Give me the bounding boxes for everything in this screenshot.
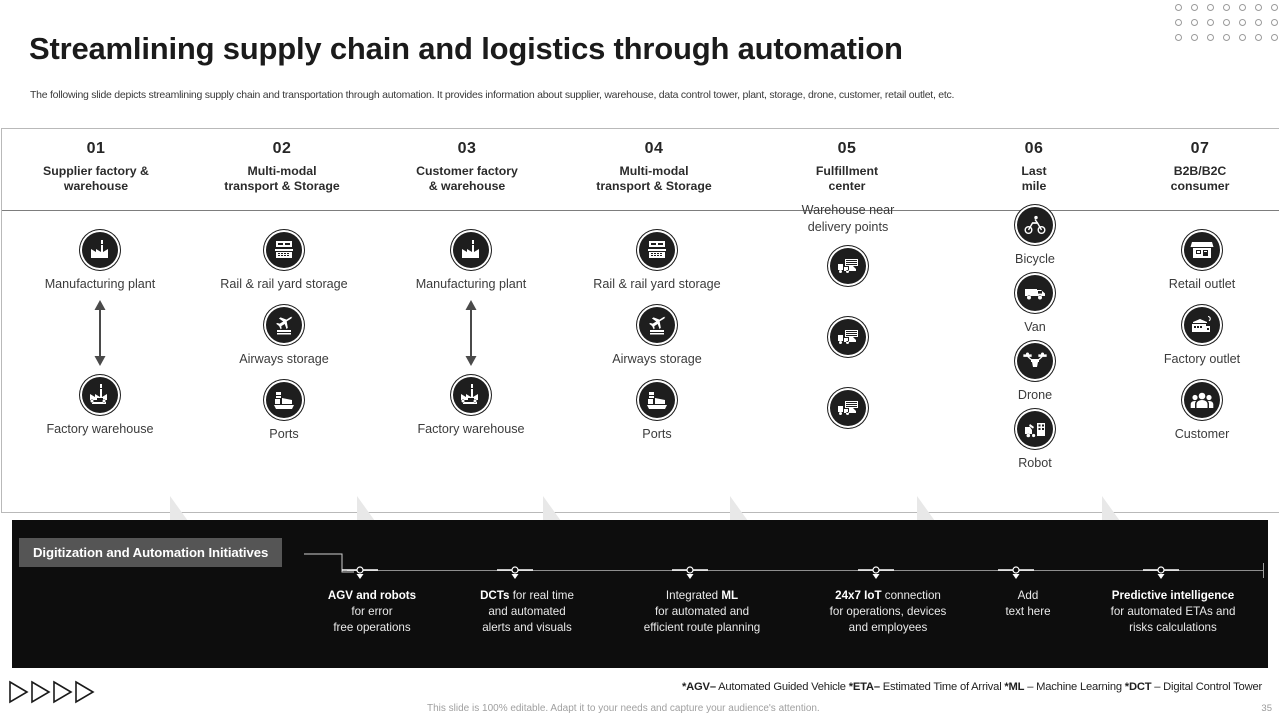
timeline-marker-5[interactable] xyxy=(992,562,1040,584)
node-label: Airways storage xyxy=(612,352,702,367)
node-manufacturing-plant-c3[interactable]: Manufacturing plant xyxy=(381,229,561,292)
node-drone[interactable]: Drone xyxy=(945,340,1125,403)
decorative-dot-grid xyxy=(1175,4,1278,41)
stage-number: 01 xyxy=(0,140,196,158)
drone-icon xyxy=(1014,340,1056,382)
initiative-line2: for automated and xyxy=(597,604,807,620)
stage-label-line2: consumer xyxy=(1100,179,1280,194)
stage-column-1: Manufacturing plant Factory warehouse xyxy=(10,229,190,437)
stage-label-line2: transport & Storage xyxy=(182,179,382,194)
stage-label: Customer factory& warehouse xyxy=(367,164,567,194)
node-label: Rail & rail yard storage xyxy=(220,277,347,292)
node-label: Factory outlet xyxy=(1164,352,1240,367)
page-number: 35 xyxy=(1261,703,1272,714)
node-label: Ports xyxy=(269,427,298,442)
slide-root: Streamlining supply chain and logistics … xyxy=(0,0,1280,720)
legend-eta-text: Estimated Time of Arrival xyxy=(880,681,1005,693)
stage-label-line2: warehouse xyxy=(0,179,196,194)
initiative-line1: Predictive intelligence xyxy=(1068,588,1278,604)
timeline-marker-4[interactable] xyxy=(852,562,900,584)
initiative-item-3: Integrated MLfor automated andefficient … xyxy=(597,588,807,636)
node-label: Ports xyxy=(642,427,671,442)
stage-number: 03 xyxy=(367,140,567,158)
stage-label: Multi-modaltransport & Storage xyxy=(554,164,754,194)
node-manufacturing-plant-c1[interactable]: Manufacturing plant xyxy=(10,229,190,292)
stage-header-row: 01Supplier factory &warehouse02Multi-mod… xyxy=(2,129,1279,211)
decorative-dot xyxy=(1223,19,1230,26)
initiatives-band: Digitization and Automation Initiatives … xyxy=(12,520,1268,668)
factory-icon xyxy=(450,229,492,271)
play-triangle-icon xyxy=(30,680,52,709)
legend-eta: *ETA– xyxy=(849,681,880,693)
stage-number: 05 xyxy=(747,140,947,158)
decorative-dot xyxy=(1255,4,1262,11)
decorative-dot xyxy=(1191,34,1198,41)
node-label: Manufacturing plant xyxy=(416,277,527,292)
node-label: Rail & rail yard storage xyxy=(593,277,720,292)
play-triangle-icon xyxy=(8,680,30,709)
stage-column-5: Warehouse near delivery points xyxy=(758,203,938,429)
node-factory-outlet[interactable]: Factory outlet xyxy=(1112,304,1280,367)
legend-agv: *AGV– xyxy=(682,681,716,693)
warehouse-heading-line1: Warehouse near xyxy=(758,203,938,218)
node-van[interactable]: Van xyxy=(945,272,1125,335)
rail-yard-icon xyxy=(263,229,305,271)
decorative-dot xyxy=(1255,34,1262,41)
initiatives-badge: Digitization and Automation Initiatives xyxy=(19,538,282,567)
airways-storage-icon xyxy=(636,304,678,346)
stage-label-line1: Supplier factory & xyxy=(0,164,196,179)
robot-icon xyxy=(1014,408,1056,450)
node-label: Customer xyxy=(1175,427,1230,442)
decorative-dot xyxy=(1175,4,1182,11)
warehouse-truck-icon xyxy=(827,245,869,287)
decorative-triangles xyxy=(8,680,96,709)
stage-header-02: 02Multi-modaltransport & Storage xyxy=(182,140,382,194)
stage-label: Multi-modaltransport & Storage xyxy=(182,164,382,194)
node-retail-outlet[interactable]: Retail outlet xyxy=(1112,229,1280,292)
stage-label-line2: transport & Storage xyxy=(554,179,754,194)
warehouse-heading-line2: delivery points xyxy=(758,220,938,235)
factory-warehouse-icon xyxy=(450,374,492,416)
node-warehouse-delivery-3[interactable] xyxy=(758,387,938,429)
node-label: Airways storage xyxy=(239,352,329,367)
page-subtitle: The following slide depicts streamlining… xyxy=(30,89,954,101)
node-rail-yard-storage-c4[interactable]: Rail & rail yard storage xyxy=(567,229,747,292)
legend-dct: *DCT xyxy=(1125,681,1152,693)
stage-label-line2: & warehouse xyxy=(367,179,567,194)
node-factory-warehouse-c1[interactable]: Factory warehouse xyxy=(10,374,190,437)
decorative-dot xyxy=(1239,4,1246,11)
stage-header-03: 03Customer factory& warehouse xyxy=(367,140,567,194)
node-ports-c2[interactable]: Ports xyxy=(194,379,374,442)
timeline-marker-3[interactable] xyxy=(666,562,714,584)
node-label: Retail outlet xyxy=(1169,277,1236,292)
node-customer[interactable]: Customer xyxy=(1112,379,1280,442)
stage-label-line2: center xyxy=(747,179,947,194)
timeline-marker-6[interactable] xyxy=(1137,562,1185,584)
play-triangle-icon xyxy=(74,680,96,709)
legend-dct-text: – Digital Control Tower xyxy=(1151,681,1262,693)
node-label: Robot xyxy=(1018,456,1052,471)
node-warehouse-delivery-1[interactable] xyxy=(758,245,938,287)
warehouse-truck-icon xyxy=(827,316,869,358)
timeline-end-cap xyxy=(1263,563,1264,578)
factory-icon xyxy=(79,229,121,271)
decorative-dot xyxy=(1271,19,1278,26)
van-icon xyxy=(1014,272,1056,314)
node-label: Manufacturing plant xyxy=(45,277,156,292)
warehouse-truck-icon xyxy=(827,387,869,429)
dot-row xyxy=(1175,19,1278,26)
stage-header-05: 05Fulfillmentcenter xyxy=(747,140,947,194)
decorative-dot xyxy=(1223,34,1230,41)
double-headed-vertical-arrow-c3 xyxy=(470,300,472,366)
node-airways-storage-c4[interactable]: Airways storage xyxy=(567,304,747,367)
decorative-dot xyxy=(1175,19,1182,26)
decorative-dot xyxy=(1239,34,1246,41)
timeline-marker-1[interactable] xyxy=(336,562,384,584)
stage-column-7: Retail outlet Factory outlet Customer xyxy=(1112,229,1280,442)
editable-note: This slide is 100% editable. Adapt it to… xyxy=(427,703,820,714)
node-label: Drone xyxy=(1018,388,1052,403)
decorative-dot xyxy=(1255,19,1262,26)
stage-number: 02 xyxy=(182,140,382,158)
decorative-dot xyxy=(1175,34,1182,41)
ports-icon xyxy=(263,379,305,421)
node-label: Bicycle xyxy=(1015,252,1055,267)
node-factory-warehouse-c3[interactable]: Factory warehouse xyxy=(381,374,561,437)
stage-label-line1: Customer factory xyxy=(367,164,567,179)
node-bicycle[interactable]: Bicycle xyxy=(945,204,1125,267)
stage-header-04: 04Multi-modaltransport & Storage xyxy=(554,140,754,194)
dot-row xyxy=(1175,34,1278,41)
stage-label: Fulfillmentcenter xyxy=(747,164,947,194)
node-rail-yard-storage-c2[interactable]: Rail & rail yard storage xyxy=(194,229,374,292)
double-headed-vertical-arrow-c1 xyxy=(99,300,101,366)
dot-row xyxy=(1175,4,1278,11)
factory-warehouse-icon xyxy=(79,374,121,416)
node-label: Factory warehouse xyxy=(417,422,524,437)
node-ports-c4[interactable]: Ports xyxy=(567,379,747,442)
initiative-line3: and employees xyxy=(783,620,993,636)
decorative-dot xyxy=(1271,34,1278,41)
stage-label-line1: Multi-modal xyxy=(182,164,382,179)
customer-group-icon xyxy=(1181,379,1223,421)
decorative-dot xyxy=(1191,4,1198,11)
initiatives-timeline-line xyxy=(347,570,1263,571)
stage-header-07: 07B2B/B2Cconsumer xyxy=(1100,140,1280,194)
stage-number: 04 xyxy=(554,140,754,158)
initiative-line1: Integrated ML xyxy=(597,588,807,604)
node-label: Van xyxy=(1024,320,1045,335)
initiative-item-6: Predictive intelligencefor automated ETA… xyxy=(1068,588,1278,636)
bicycle-icon xyxy=(1014,204,1056,246)
legend-agv-text: Automated Guided Vehicle xyxy=(716,681,849,693)
stage-label: B2B/B2Cconsumer xyxy=(1100,164,1280,194)
node-robot[interactable]: Robot xyxy=(945,408,1125,471)
decorative-dot xyxy=(1239,19,1246,26)
decorative-dot xyxy=(1207,4,1214,11)
retail-outlet-icon xyxy=(1181,229,1223,271)
stage-column-6: Bicycle Van Drone Robot xyxy=(945,204,1125,471)
node-airways-storage-c2[interactable]: Airways storage xyxy=(194,304,374,367)
supply-chain-panel: 01Supplier factory &warehouse02Multi-mod… xyxy=(1,128,1279,513)
stage-column-2: Rail & rail yard storage Airways storage… xyxy=(194,229,374,442)
factory-outlet-icon xyxy=(1181,304,1223,346)
timeline-marker-2[interactable] xyxy=(491,562,539,584)
stage-number: 07 xyxy=(1100,140,1280,158)
stage-label-line1: Fulfillment xyxy=(747,164,947,179)
rail-yard-icon xyxy=(636,229,678,271)
legend-ml-text: – Machine Learning xyxy=(1024,681,1124,693)
abbreviation-legend: *AGV– Automated Guided Vehicle *ETA– Est… xyxy=(682,681,1262,693)
stage-header-01: 01Supplier factory &warehouse xyxy=(0,140,196,194)
stage-label: Supplier factory &warehouse xyxy=(0,164,196,194)
decorative-dot xyxy=(1207,34,1214,41)
stage-column-3: Manufacturing plant Factory warehouse xyxy=(381,229,561,437)
ports-icon xyxy=(636,379,678,421)
airways-storage-icon xyxy=(263,304,305,346)
stage-label-line1: B2B/B2C xyxy=(1100,164,1280,179)
node-warehouse-delivery-2[interactable] xyxy=(758,316,938,358)
stage-label-line1: Multi-modal xyxy=(554,164,754,179)
initiative-line3: efficient route planning xyxy=(597,620,807,636)
initiative-line3: risks calculations xyxy=(1068,620,1278,636)
decorative-dot xyxy=(1191,19,1198,26)
page-title: Streamlining supply chain and logistics … xyxy=(29,31,903,67)
stage-column-4: Rail & rail yard storage Airways storage… xyxy=(567,229,747,442)
decorative-dot xyxy=(1271,4,1278,11)
node-label: Factory warehouse xyxy=(46,422,153,437)
legend-ml: *ML xyxy=(1004,681,1024,693)
decorative-dot xyxy=(1223,4,1230,11)
play-triangle-icon xyxy=(52,680,74,709)
stage-content-row: Manufacturing plant Factory warehouse xyxy=(2,211,1279,512)
initiative-line2: for automated ETAs and xyxy=(1068,604,1278,620)
decorative-dot xyxy=(1207,19,1214,26)
